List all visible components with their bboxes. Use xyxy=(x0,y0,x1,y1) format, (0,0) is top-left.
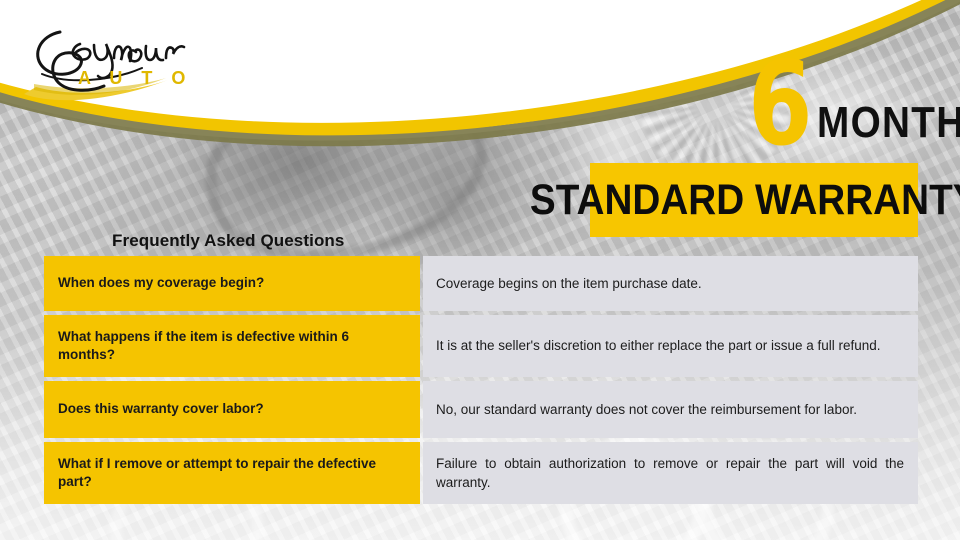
faq-question-cell: Does this warranty cover labor? xyxy=(44,381,420,438)
faq-answer-text: Coverage begins on the item purchase dat… xyxy=(436,274,702,293)
faq-answer-cell: No, our standard warranty does not cover… xyxy=(423,381,918,438)
standard-warranty-banner: STANDARD WARRANTY xyxy=(590,163,918,237)
warranty-slide: A U T O Seymour A U T O 6 MONTH STANDARD… xyxy=(0,0,960,540)
faq-answer-cell: It is at the seller's discretion to eith… xyxy=(423,315,918,377)
faq-row: When does my coverage begin? Coverage be… xyxy=(44,256,918,311)
warranty-duration-number: 6 xyxy=(748,47,811,163)
faq-question-cell: What if I remove or attempt to repair th… xyxy=(44,442,420,504)
faq-question-cell: What happens if the item is defective wi… xyxy=(44,315,420,377)
faq-table: When does my coverage begin? Coverage be… xyxy=(44,256,918,504)
faq-answer-cell: Coverage begins on the item purchase dat… xyxy=(423,256,918,311)
warranty-duration-unit: MONTH xyxy=(817,101,960,145)
faq-heading: Frequently Asked Questions xyxy=(112,231,344,251)
faq-row: Does this warranty cover labor? No, our … xyxy=(44,381,918,438)
logo-auto-text: A U T O xyxy=(78,68,192,88)
faq-answer-cell: Failure to obtain authorization to remov… xyxy=(423,442,918,504)
seymour-auto-logo: A U T O xyxy=(16,14,196,106)
faq-answer-text: No, our standard warranty does not cover… xyxy=(436,400,857,419)
faq-answer-text: It is at the seller's discretion to eith… xyxy=(436,336,881,355)
faq-answer-text: Failure to obtain authorization to remov… xyxy=(436,454,904,492)
standard-warranty-text: STANDARD WARRANTY xyxy=(530,179,960,222)
faq-row: What if I remove or attempt to repair th… xyxy=(44,442,918,504)
faq-row: What happens if the item is defective wi… xyxy=(44,315,918,377)
faq-question-cell: When does my coverage begin? xyxy=(44,256,420,311)
